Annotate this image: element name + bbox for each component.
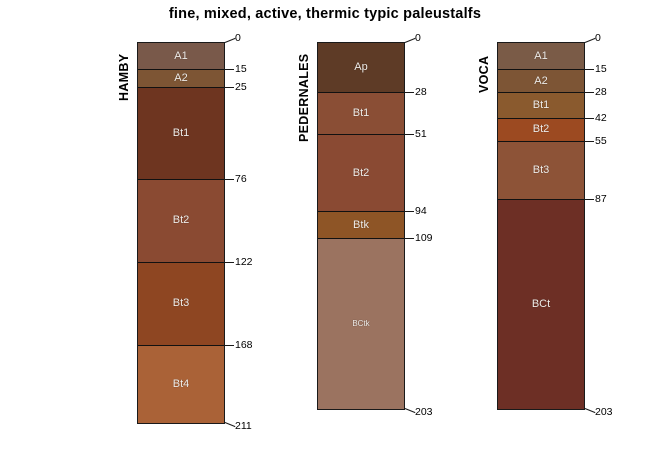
soil-profile-figure: fine, mixed, active, thermic typic paleu… <box>0 0 650 450</box>
depth-tick <box>225 38 236 43</box>
horizon-label: Bt3 <box>173 298 190 309</box>
depth-tick-label: 76 <box>235 174 247 185</box>
horizon-label: A1 <box>534 51 547 62</box>
horizon-band[interactable]: A2 <box>498 70 584 93</box>
depth-tick-label: 15 <box>595 64 607 75</box>
depth-tick <box>405 238 414 239</box>
horizon-band[interactable]: A1 <box>138 43 224 70</box>
profile-name-voca: VOCA <box>477 55 491 92</box>
horizon-label: Bt1 <box>173 128 190 139</box>
horizon-label: Bt2 <box>533 124 550 135</box>
horizon-label: BCtk <box>352 320 369 328</box>
horizon-band[interactable]: BCt <box>498 200 584 409</box>
depth-tick-label: 94 <box>415 206 427 217</box>
depth-tick-label: 0 <box>235 33 241 44</box>
depth-tick-label: 203 <box>415 407 433 418</box>
horizon-band[interactable]: A2 <box>138 70 224 88</box>
horizon-label: Bt2 <box>173 215 190 226</box>
depth-tick <box>585 199 594 200</box>
horizon-label: Ap <box>354 62 367 73</box>
depth-tick <box>405 211 414 212</box>
depth-tick-label: 0 <box>415 33 421 44</box>
depth-tick-label: 211 <box>235 421 252 432</box>
horizon-label: Btk <box>353 220 369 231</box>
page-title: fine, mixed, active, thermic typic paleu… <box>0 6 650 22</box>
horizon-label: Bt4 <box>173 379 190 390</box>
horizon-label: BCt <box>532 299 550 310</box>
horizon-band[interactable]: Bt1 <box>498 93 584 118</box>
horizon-label: A1 <box>174 51 187 62</box>
depth-tick <box>405 408 416 413</box>
horizon-band[interactable]: Bt4 <box>138 346 224 423</box>
profile-name-hamby: HAMBY <box>117 54 131 101</box>
horizon-label: Bt3 <box>533 165 550 176</box>
horizon-label: A2 <box>534 76 547 87</box>
horizon-label: Bt1 <box>533 100 550 111</box>
depth-tick-label: 15 <box>235 64 247 75</box>
horizon-band[interactable]: Ap <box>318 43 404 93</box>
profile-column-pedernales: ApBt1Bt2BtkBCtk <box>317 42 405 410</box>
depth-tick <box>585 69 594 70</box>
depth-tick-label: 87 <box>595 194 607 205</box>
horizon-label: A2 <box>174 73 187 84</box>
horizon-band[interactable]: Bt1 <box>138 88 224 180</box>
horizon-band[interactable]: A1 <box>498 43 584 70</box>
profile-column-voca: A1A2Bt1Bt2Bt3BCt <box>497 42 585 410</box>
depth-tick-label: 42 <box>595 113 607 124</box>
horizon-band[interactable]: BCtk <box>318 239 404 408</box>
depth-tick-label: 28 <box>595 87 607 98</box>
depth-tick <box>585 38 596 43</box>
depth-tick <box>585 92 594 93</box>
depth-tick-label: 122 <box>235 257 253 268</box>
depth-tick <box>405 92 414 93</box>
depth-tick-label: 51 <box>415 129 427 140</box>
depth-tick <box>225 87 234 88</box>
depth-tick <box>585 408 596 413</box>
depth-tick-label: 168 <box>235 340 253 351</box>
depth-tick-label: 109 <box>415 233 433 244</box>
profile-name-pedernales: PEDERNALES <box>297 54 311 142</box>
depth-tick-label: 25 <box>235 82 247 93</box>
depth-tick-label: 55 <box>595 136 607 147</box>
horizon-band[interactable]: Bt3 <box>498 142 584 200</box>
horizon-band[interactable]: Btk <box>318 212 404 239</box>
horizon-band[interactable]: Bt2 <box>138 180 224 263</box>
depth-tick <box>225 179 234 180</box>
profile-column-hamby: A1A2Bt1Bt2Bt3Bt4 <box>137 42 225 424</box>
horizon-band[interactable]: Bt3 <box>138 263 224 346</box>
depth-tick <box>405 38 416 43</box>
horizon-label: Bt2 <box>353 168 370 179</box>
depth-tick-label: 28 <box>415 87 427 98</box>
depth-tick-label: 203 <box>595 407 613 418</box>
horizon-band[interactable]: Bt1 <box>318 93 404 134</box>
depth-tick <box>585 118 594 119</box>
depth-tick <box>585 141 594 142</box>
depth-tick <box>225 422 236 427</box>
horizon-band[interactable]: Bt2 <box>318 135 404 212</box>
horizon-band[interactable]: Bt2 <box>498 119 584 142</box>
depth-tick <box>225 262 234 263</box>
depth-tick <box>405 134 414 135</box>
depth-tick-label: 0 <box>595 33 601 44</box>
depth-tick <box>225 345 234 346</box>
horizon-label: Bt1 <box>353 108 370 119</box>
depth-tick <box>225 69 234 70</box>
